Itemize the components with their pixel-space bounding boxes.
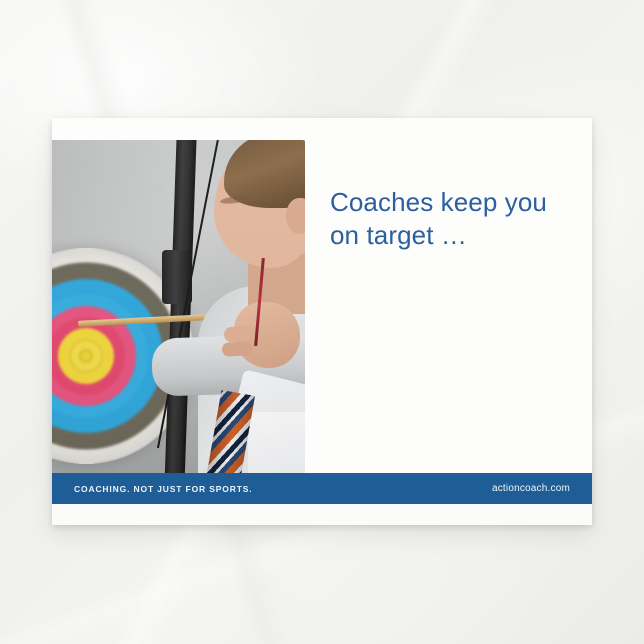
postcard: Coaches keep you on target … COACHING. N… — [52, 118, 592, 525]
archery-photo — [52, 140, 305, 503]
banner-tagline: COACHING. NOT JUST FOR SPORTS. — [74, 484, 253, 494]
card-footer-strip — [52, 504, 592, 525]
headline: Coaches keep you on target … — [330, 186, 580, 253]
banner-website-url[interactable]: actioncoach.com — [492, 483, 570, 494]
archer-ear — [286, 198, 305, 234]
headline-line-2: on target … — [330, 219, 580, 252]
brand-banner: COACHING. NOT JUST FOR SPORTS. actioncoa… — [52, 473, 592, 504]
headline-line-1: Coaches keep you — [330, 186, 580, 219]
archer-finger-lower — [222, 341, 253, 357]
target-bullseye — [79, 349, 93, 363]
